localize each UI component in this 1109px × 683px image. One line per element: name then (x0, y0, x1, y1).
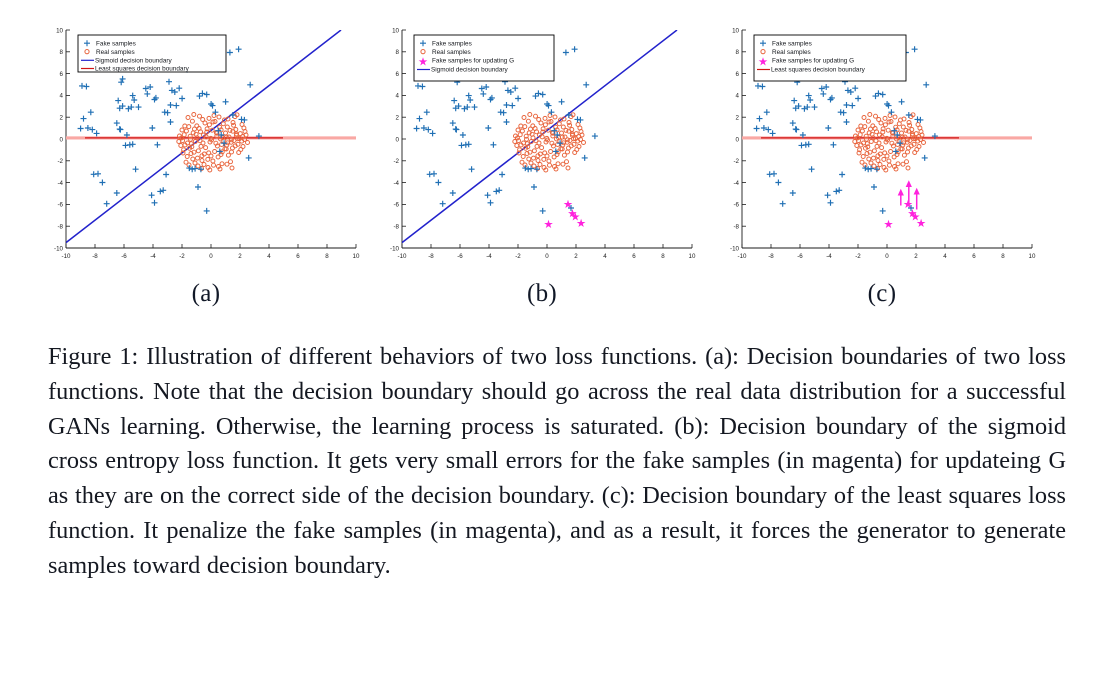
svg-text:6: 6 (60, 71, 64, 78)
fake-samples-updating-g-group-c (884, 200, 925, 228)
svg-text:8: 8 (396, 49, 400, 56)
svg-text:2: 2 (396, 115, 400, 122)
svg-text:-6: -6 (733, 202, 739, 209)
svg-text:4: 4 (267, 253, 271, 260)
svg-text:0: 0 (60, 136, 64, 143)
svg-text:-4: -4 (57, 180, 63, 187)
svg-text:-4: -4 (150, 253, 156, 260)
y-axis-ticks-b: 10 8 6 4 2 0 -2 -4 -6 -8 -10 (390, 27, 406, 252)
svg-text:10: 10 (689, 253, 696, 260)
svg-text:10: 10 (392, 27, 399, 34)
svg-text:-10: -10 (738, 253, 748, 260)
legend-label-fake-samples-updating-g-b: Fake samples for updating G (432, 57, 514, 64)
svg-text:-4: -4 (826, 253, 832, 260)
svg-text:2: 2 (736, 115, 740, 122)
svg-text:-6: -6 (797, 253, 803, 260)
svg-text:-10: -10 (62, 253, 72, 260)
figure-caption: Figure 1: Illustration of different beha… (48, 340, 1066, 584)
svg-text:-10: -10 (390, 245, 400, 252)
svg-text:8: 8 (325, 253, 329, 260)
scatter-plot-a: 10 8 6 4 2 0 -2 -4 -6 -8 -10 (36, 18, 376, 268)
svg-text:10: 10 (732, 27, 739, 34)
real-samples-group-a (177, 113, 250, 173)
svg-text:6: 6 (296, 253, 300, 260)
x-axis-ticks-c: -10 -8 -6 -4 -2 0 2 4 6 8 10 (738, 244, 1036, 260)
svg-text:2: 2 (60, 115, 64, 122)
panel-label-b: (b) (372, 280, 712, 308)
svg-text:4: 4 (603, 253, 607, 260)
svg-text:-2: -2 (855, 253, 861, 260)
legend-label-fake-samples-updating-g-c: Fake samples for updating G (772, 57, 854, 64)
scatter-plot-c: 10 8 6 4 2 0 -2 -4 -6 -8 -10 (712, 18, 1052, 268)
svg-text:-6: -6 (393, 202, 399, 209)
svg-text:-6: -6 (457, 253, 463, 260)
svg-text:-2: -2 (733, 158, 739, 165)
panel-label-c: (c) (712, 280, 1052, 308)
svg-text:-4: -4 (733, 180, 739, 187)
svg-text:-6: -6 (57, 202, 63, 209)
legend-label-sigmoid-boundary-a: Sigmoid decision boundary (95, 57, 173, 64)
svg-text:4: 4 (60, 93, 64, 100)
svg-text:4: 4 (736, 93, 740, 100)
legend-label-real-samples-b: Real samples (432, 49, 471, 56)
svg-text:-4: -4 (393, 180, 399, 187)
y-axis-ticks-c: 10 8 6 4 2 0 -2 -4 -6 -8 -10 (730, 27, 746, 252)
svg-text:-2: -2 (179, 253, 185, 260)
y-axis-ticks-a: 10 8 6 4 2 0 -2 -4 -6 -8 -10 (54, 27, 70, 252)
legend-label-least-squares-boundary-a: Least squares decision boundary (95, 66, 190, 73)
svg-text:10: 10 (56, 27, 63, 34)
real-samples-group-b (513, 113, 586, 173)
svg-text:-10: -10 (730, 245, 740, 252)
svg-text:-2: -2 (515, 253, 521, 260)
figure-panel-c: 10 8 6 4 2 0 -2 -4 -6 -8 -10 (712, 18, 1052, 310)
svg-text:4: 4 (943, 253, 947, 260)
legend-c: Fake samples Real samples Fake samples f… (754, 35, 906, 81)
svg-text:-2: -2 (393, 158, 399, 165)
svg-text:6: 6 (396, 71, 400, 78)
svg-text:-8: -8 (428, 253, 434, 260)
legend-b: Fake samples Real samples Fake samples f… (414, 35, 554, 81)
fake-samples-updating-g-group-b (544, 200, 585, 228)
svg-text:0: 0 (396, 136, 400, 143)
svg-text:2: 2 (574, 253, 578, 260)
svg-text:4: 4 (396, 93, 400, 100)
legend-label-real-samples-c: Real samples (772, 49, 811, 56)
svg-text:2: 2 (238, 253, 242, 260)
svg-text:-8: -8 (393, 224, 399, 231)
svg-text:-8: -8 (92, 253, 98, 260)
svg-text:0: 0 (736, 136, 740, 143)
svg-text:10: 10 (353, 253, 360, 260)
legend-a: Fake samples Real samples Sigmoid decisi… (78, 35, 226, 73)
x-axis-ticks-b: -10 -8 -6 -4 -2 0 2 4 6 8 10 (398, 244, 696, 260)
svg-text:-8: -8 (733, 224, 739, 231)
x-axis-ticks-a: -10 -8 -6 -4 -2 0 2 4 6 8 10 (62, 244, 360, 260)
svg-text:8: 8 (736, 49, 740, 56)
svg-text:8: 8 (1001, 253, 1005, 260)
legend-label-fake-samples-a: Fake samples (96, 40, 136, 47)
svg-text:6: 6 (632, 253, 636, 260)
real-samples-group-c (853, 113, 926, 173)
svg-text:6: 6 (972, 253, 976, 260)
figure-panel-a: 10 8 6 4 2 0 -2 -4 -6 -8 -10 (36, 18, 376, 310)
svg-text:-8: -8 (57, 224, 63, 231)
legend-label-fake-samples-b: Fake samples (432, 40, 472, 47)
svg-text:10: 10 (1029, 253, 1036, 260)
svg-text:2: 2 (914, 253, 918, 260)
svg-text:0: 0 (885, 253, 889, 260)
svg-text:8: 8 (60, 49, 64, 56)
svg-text:-10: -10 (398, 253, 408, 260)
scatter-plot-b: 10 8 6 4 2 0 -2 -4 -6 -8 -10 (372, 18, 712, 268)
legend-label-least-squares-boundary-c: Least squares decision boundary (771, 67, 866, 74)
svg-text:8: 8 (661, 253, 665, 260)
svg-text:-2: -2 (57, 158, 63, 165)
svg-text:-8: -8 (768, 253, 774, 260)
svg-text:-4: -4 (486, 253, 492, 260)
svg-text:-10: -10 (54, 245, 64, 252)
svg-text:0: 0 (209, 253, 213, 260)
figure-panel-b: 10 8 6 4 2 0 -2 -4 -6 -8 -10 (372, 18, 712, 310)
svg-text:6: 6 (736, 71, 740, 78)
figure-panels-row: 10 8 6 4 2 0 -2 -4 -6 -8 -10 (0, 0, 1109, 310)
legend-label-fake-samples-c: Fake samples (772, 40, 812, 47)
svg-text:-6: -6 (121, 253, 127, 260)
legend-label-sigmoid-boundary-b: Sigmoid decision boundary (431, 67, 509, 74)
legend-label-real-samples-a: Real samples (96, 49, 135, 56)
svg-text:0: 0 (545, 253, 549, 260)
panel-label-a: (a) (36, 280, 376, 308)
